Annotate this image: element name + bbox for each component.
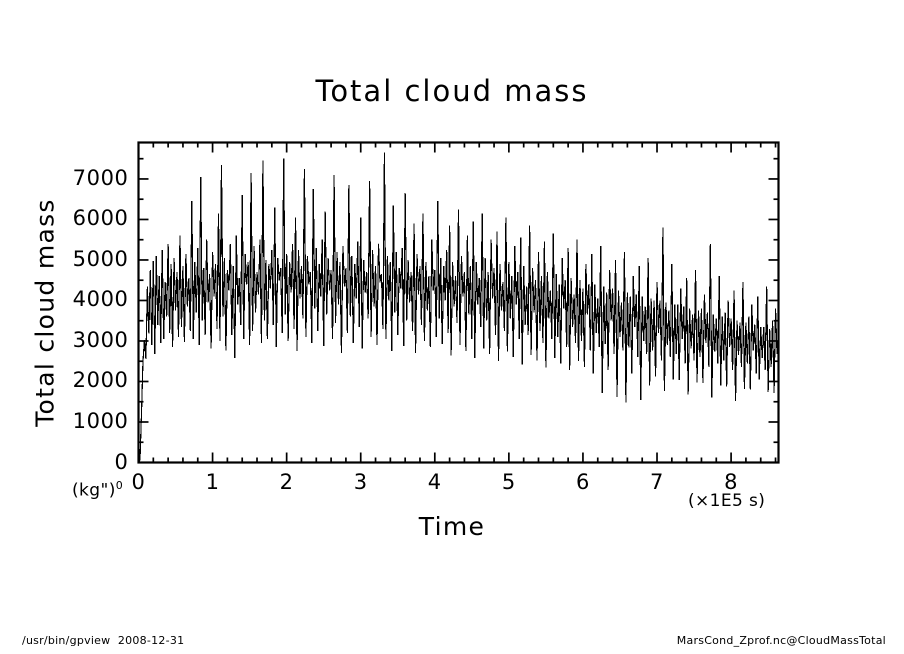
y-tick-label: 7000 (3, 166, 129, 190)
x-tick-label: 3 (331, 470, 391, 494)
series-line-cloudmasstotal (139, 153, 779, 463)
axis-ticks (139, 143, 779, 463)
y-tick-label: 3000 (3, 328, 129, 352)
y-tick-label: 2000 (3, 368, 129, 392)
y-tick-label: 6000 (3, 206, 129, 230)
x-tick-label: 8 (701, 470, 761, 494)
x-tick-label: 6 (553, 470, 613, 494)
x-tick-label: 4 (405, 470, 465, 494)
axis-frame (139, 143, 779, 463)
data-trace (139, 153, 779, 463)
plot-frame (139, 143, 779, 463)
figure-canvas: Total cloud mass Total cloud mass Time (… (0, 0, 904, 654)
x-tick-label: 1 (183, 470, 243, 494)
y-tick-label: 1000 (3, 409, 129, 433)
footer-source: MarsCond_Zprof.nc@CloudMassTotal (677, 634, 886, 647)
x-tick-label: 0 (109, 470, 169, 494)
x-tick-label: 5 (479, 470, 539, 494)
footer-command: /usr/bin/gpview 2008-12-31 (22, 634, 184, 647)
x-tick-label: 7 (627, 470, 687, 494)
plot-area (0, 0, 904, 654)
y-tick-label: 5000 (3, 247, 129, 271)
y-tick-label: 4000 (3, 287, 129, 311)
x-tick-label: 2 (257, 470, 317, 494)
